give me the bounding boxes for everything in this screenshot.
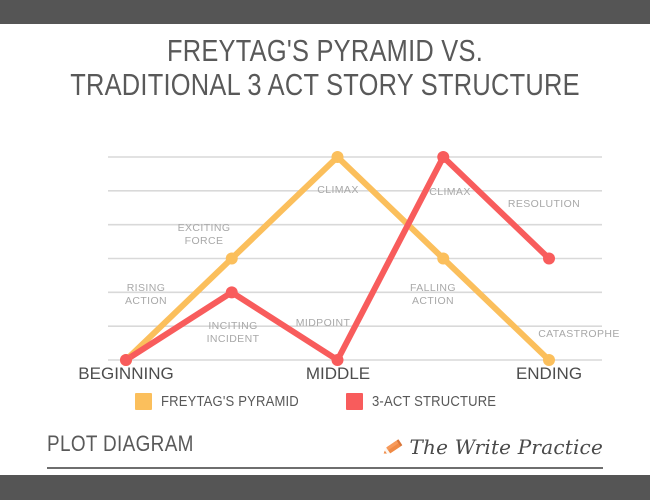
annotation-rising-action: RISINGACTION: [125, 282, 167, 307]
annotation-catastrophe: CATASTROPHE: [538, 328, 620, 340]
annotation-inciting-incident: INCITINGINCIDENT: [207, 320, 260, 345]
brand-name: The Write Practice: [410, 435, 603, 459]
data-point: [543, 253, 555, 265]
axis-label-ending: ENDING: [516, 364, 582, 383]
annotation-climax-3act: CLIMAX: [429, 186, 471, 198]
plot-diagram-infographic: FREYTAG'S PYRAMID VS. TRADITIONAL 3 ACT …: [0, 0, 650, 500]
plot-diagram-chart: RISINGACTIONEXCITINGFORCEINCITINGINCIDEN…: [0, 0, 650, 500]
pencil-icon: [380, 435, 406, 459]
data-point: [226, 286, 238, 298]
chart-legend: FREYTAG'S PYRAMID3-ACT STRUCTURE: [0, 393, 650, 410]
footer-divider: [47, 467, 603, 469]
data-point: [226, 253, 238, 265]
annotation-midpoint: MIDPOINT: [296, 317, 351, 329]
legend-item-1: FREYTAG'S PYRAMID: [135, 393, 320, 410]
axis-label-middle: MIDDLE: [306, 364, 370, 383]
legend-label: 3-ACT STRUCTURE: [372, 393, 496, 410]
annotation-falling-action: FALLINGACTION: [410, 282, 456, 307]
chart-axis-labels: BEGINNINGMIDDLEENDING: [78, 364, 582, 383]
axis-label-beginning: BEGINNING: [78, 364, 173, 383]
data-point: [332, 151, 344, 163]
legend-swatch: [135, 393, 152, 410]
legend-item-2: 3-ACT STRUCTURE: [346, 393, 515, 410]
footer-label: PLOT DIAGRAM: [47, 431, 194, 457]
annotation-exciting-force: EXCITINGFORCE: [178, 222, 231, 247]
legend-label: FREYTAG'S PYRAMID: [161, 393, 299, 410]
data-point: [437, 151, 449, 163]
data-point: [437, 253, 449, 265]
annotation-resolution: RESOLUTION: [508, 198, 580, 210]
legend-swatch: [346, 393, 363, 410]
annotation-climax-freytag: CLIMAX: [317, 184, 359, 196]
footer: PLOT DIAGRAM The Write Practice: [0, 431, 650, 475]
brand-logo: The Write Practice: [380, 435, 603, 459]
chart-annotations: RISINGACTIONEXCITINGFORCEINCITINGINCIDEN…: [125, 184, 620, 345]
